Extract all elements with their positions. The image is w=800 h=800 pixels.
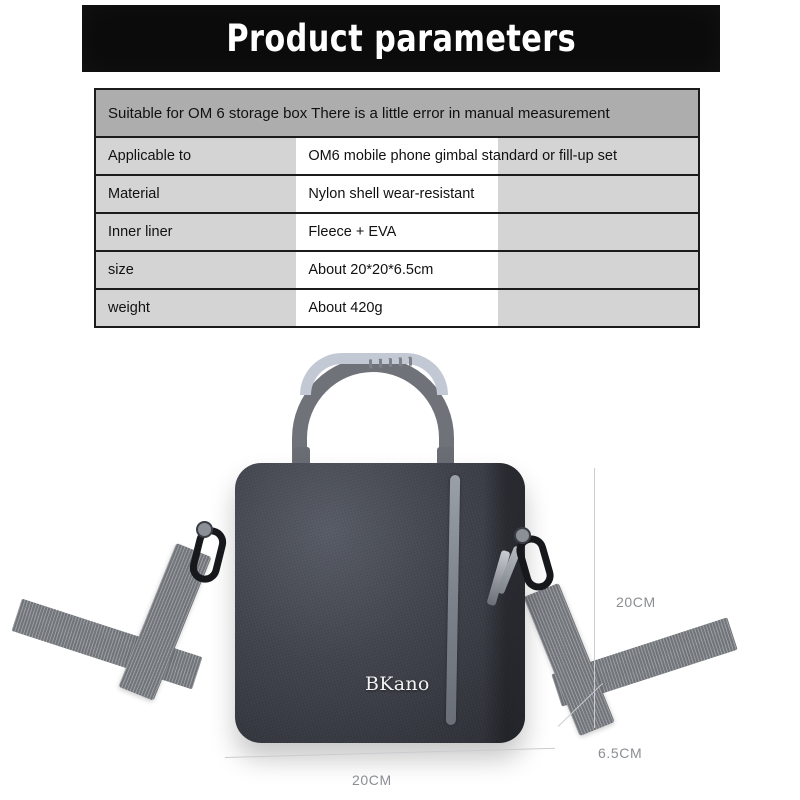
spec-table: Suitable for OM 6 storage box There is a… (94, 88, 700, 328)
row-label-material: Material (95, 175, 296, 213)
product-photo: BKano (0, 345, 800, 800)
strap-ring-left (196, 521, 213, 538)
table-row: weight About 420g (95, 289, 699, 327)
row-pad-cell (498, 289, 699, 327)
page-title: Product parameters (226, 17, 576, 60)
row-value-text: OM6 mobile phone gimbal standard or fill… (308, 148, 617, 164)
dimension-label-height: 20CM (616, 594, 656, 610)
brand-logo: BKano (365, 673, 430, 695)
row-value-material: Nylon shell wear-resistant (296, 175, 497, 213)
bag-fabric-texture (235, 463, 525, 743)
carry-handle-grip (300, 353, 448, 395)
row-value-text: About 20*20*6.5cm (308, 262, 433, 278)
page-title-banner: Product parameters (82, 5, 720, 72)
row-pad-cell (498, 213, 699, 251)
row-pad-cell (498, 251, 699, 289)
row-value-text: About 420g (308, 300, 382, 316)
dimension-label-width: 20CM (352, 772, 392, 788)
row-value-inner-liner: Fleece + EVA (296, 213, 497, 251)
row-value-text: Nylon shell wear-resistant (308, 186, 474, 202)
table-row: Material Nylon shell wear-resistant (95, 175, 699, 213)
table-row: Applicable to OM6 mobile phone gimbal st… (95, 137, 699, 175)
row-label-applicable-to: Applicable to (95, 137, 296, 175)
strap-ring-right (514, 527, 531, 544)
table-row: Inner liner Fleece + EVA (95, 213, 699, 251)
row-value-size: About 20*20*6.5cm (296, 251, 497, 289)
row-label-weight: weight (95, 289, 296, 327)
row-label-inner-liner: Inner liner (95, 213, 296, 251)
row-value-text: Fleece + EVA (308, 224, 396, 240)
row-value-weight: About 420g (296, 289, 497, 327)
row-value-applicable-to: OM6 mobile phone gimbal standard or fill… (296, 137, 497, 175)
storage-bag-body: BKano (235, 463, 525, 743)
row-pad-cell (498, 175, 699, 213)
table-row: size About 20*20*6.5cm (95, 251, 699, 289)
table-note-row: Suitable for OM 6 storage box There is a… (95, 89, 699, 137)
dimension-label-depth: 6.5CM (598, 745, 642, 761)
table-note-cell: Suitable for OM 6 storage box There is a… (95, 89, 699, 137)
row-label-size: size (95, 251, 296, 289)
